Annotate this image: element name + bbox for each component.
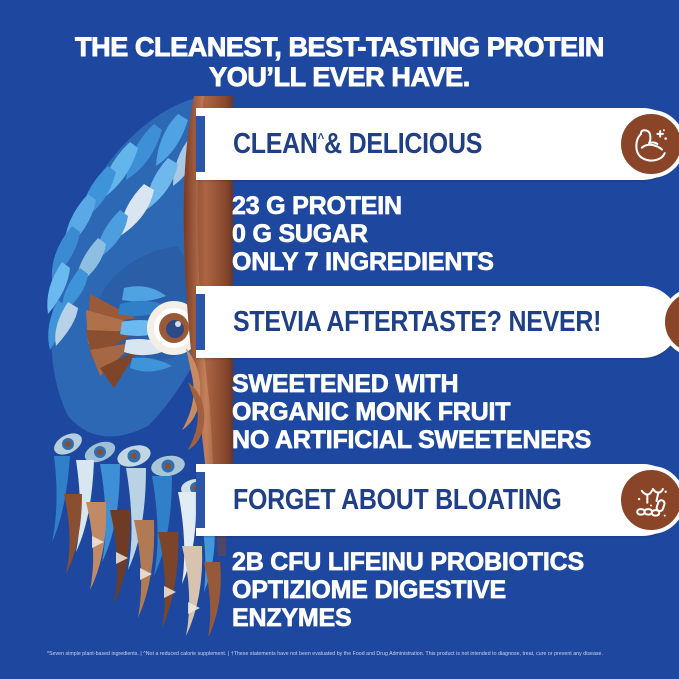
bullet-line: OPTIZIOME DIGESTIVE <box>232 576 679 604</box>
bullet-line: NO ARTIFICIAL SWEETENERS <box>232 426 679 454</box>
feature-bullets: SWEETENED WITH ORGANIC MONK FRUIT NO ART… <box>232 358 679 460</box>
probiotic-microbes-icon <box>629 478 673 522</box>
banner-title-main: FORGET ABOUT BLOATING <box>233 484 561 516</box>
product-infographic-poster: THE CLEANEST, BEST-TASTING PROTEIN YOU’L… <box>0 0 679 679</box>
feature-banner: FORGET ABOUT BLOATING <box>196 464 679 536</box>
feature-badge <box>617 466 679 534</box>
feature-forget-bloating: FORGET ABOUT BLOATING <box>0 464 679 638</box>
feature-banner-title: FORGET ABOUT BLOATING <box>233 486 563 515</box>
bullet-line: 2B CFU LIFEINU PROBIOTICS <box>232 548 679 576</box>
feature-banner-title: STEVIA AFTERTASTE? NEVER! <box>233 308 601 337</box>
banner-title-main: CLEAN <box>233 128 318 160</box>
bullet-line: 0 G SUGAR <box>232 220 679 248</box>
feature-banner-title: CLEAN^& DELICIOUS <box>233 130 563 159</box>
monk-fruit-icon <box>673 300 679 344</box>
banner-title-rest: & DELICIOUS <box>324 128 482 160</box>
bullet-line: ORGANIC MONK FRUIT <box>232 398 679 426</box>
feature-badge <box>661 288 679 356</box>
feature-list: CLEAN^& DELICIOUS 23 G PROTEIN 0 G SUGA <box>0 108 679 642</box>
bullet-line: 23 G PROTEIN <box>232 192 679 220</box>
feature-stevia-aftertaste: STEVIA AFTERTASTE? NEVER! SWEETENED WITH <box>0 286 679 460</box>
flexed-bicep-icon <box>629 122 673 166</box>
banner-title-main: STEVIA AFTERTASTE? NEVER! <box>233 306 601 338</box>
bullet-line: ENZYMES <box>232 604 679 632</box>
bullet-line: ONLY 7 INGREDIENTS <box>232 248 679 276</box>
bullet-line: SWEETENED WITH <box>232 370 679 398</box>
headline-line-1: THE CLEANEST, BEST-TASTING PROTEIN <box>75 32 604 62</box>
headline-line-2: YOU’LL EVER HAVE. <box>55 62 624 92</box>
feature-badge <box>617 110 679 178</box>
feature-bullets: 2B CFU LIFEINU PROBIOTICS OPTIZIOME DIGE… <box>232 536 679 638</box>
feature-banner: CLEAN^& DELICIOUS <box>196 108 679 180</box>
feature-clean-delicious: CLEAN^& DELICIOUS 23 G PROTEIN 0 G SUGA <box>0 108 679 282</box>
legal-footnote: *Seven simple plant-based ingredients. |… <box>47 651 661 658</box>
page-title: THE CLEANEST, BEST-TASTING PROTEIN YOU’L… <box>0 32 679 92</box>
feature-bullets: 23 G PROTEIN 0 G SUGAR ONLY 7 INGREDIENT… <box>232 180 679 282</box>
feature-banner: STEVIA AFTERTASTE? NEVER! <box>196 286 679 358</box>
